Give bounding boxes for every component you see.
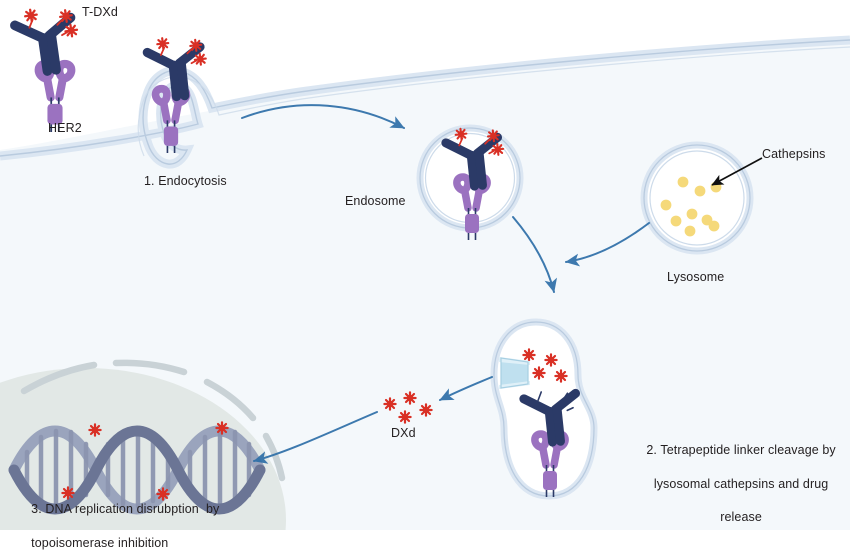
lysosome-vesicle: [644, 145, 750, 251]
label-cathepsins: Cathepsins: [762, 146, 826, 163]
label-endosome: Endosome: [345, 193, 406, 210]
label-step-2-line-3: release: [720, 510, 762, 524]
label-step-2-line-1: 2. Tetrapeptide linker cleavage by: [646, 443, 835, 457]
label-step-3-line-1: 3. DNA replication disrubption by: [31, 502, 219, 516]
label-dxd: DXd: [391, 425, 416, 442]
label-lysosome: Lysosome: [667, 269, 724, 286]
label-her2: HER2: [48, 120, 82, 137]
diagram-canvas: T-DXd HER2 1. Endocytosis Endosome Cathe…: [0, 0, 850, 530]
label-step-1-endocytosis: 1. Endocytosis: [144, 173, 227, 190]
label-step-2-line-2: lysosomal cathepsins and drug: [654, 477, 829, 491]
label-step-2: 2. Tetrapeptide linker cleavage by lysos…: [630, 425, 845, 526]
label-step-3: 3. DNA replication disrubption by topois…: [24, 484, 284, 552]
label-t-dxd: T-DXd: [82, 4, 118, 21]
membrane-transporter-icon: [499, 357, 530, 389]
label-step-3-line-2: topoisomerase inhibition: [31, 536, 168, 550]
